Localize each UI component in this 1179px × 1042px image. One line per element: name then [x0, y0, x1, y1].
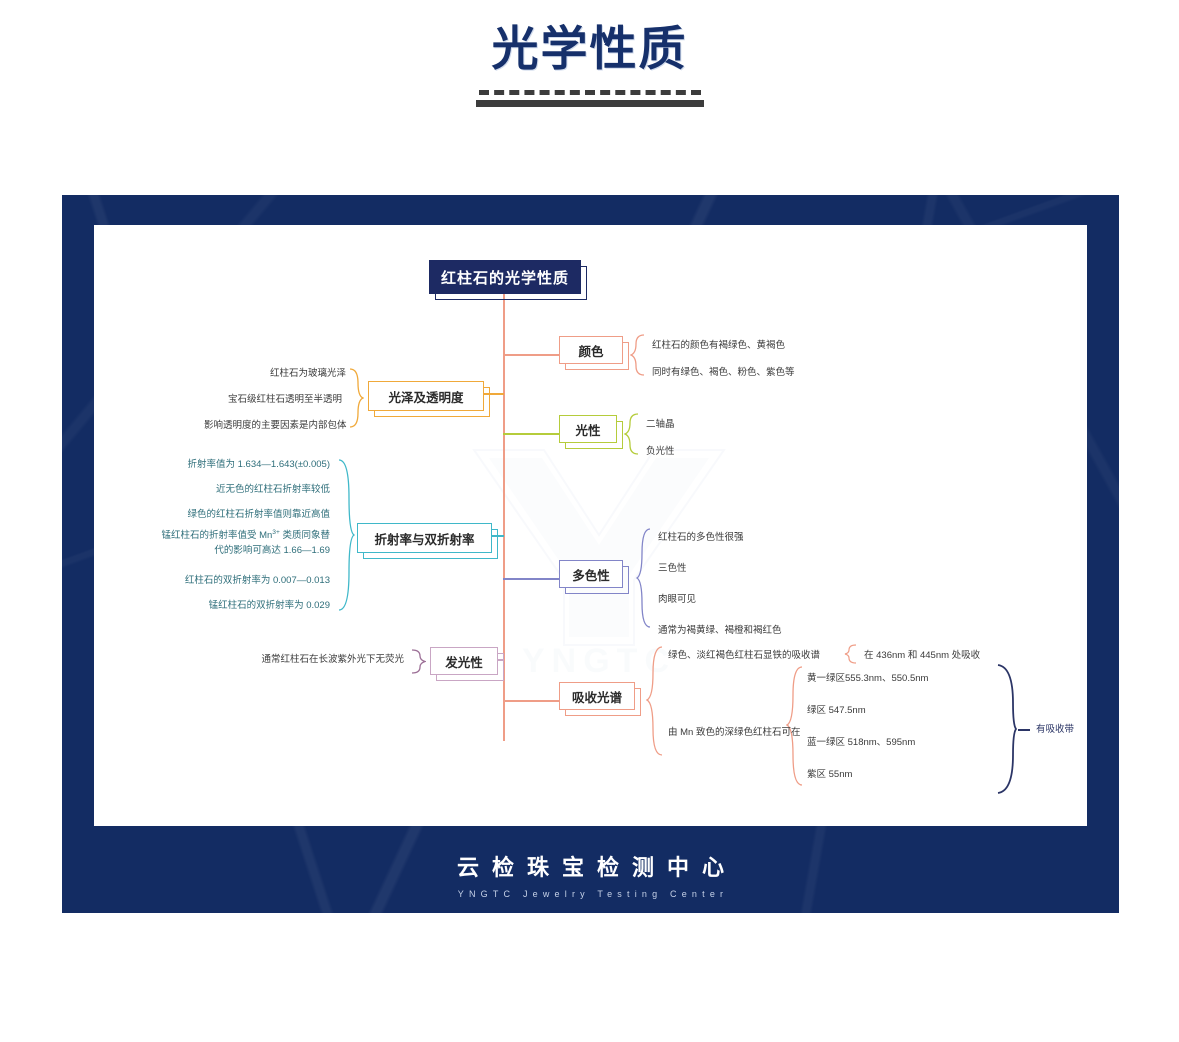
brace-spectrum [646, 645, 664, 760]
connector-pleochroism [503, 578, 559, 580]
footer-title-cn: 云检珠宝检测中心 [62, 850, 1119, 882]
brace-color [630, 333, 646, 377]
leaf-luminescence-0: 通常红柱石在长波紫外光下无荧光 [240, 652, 404, 667]
leaf-spectrum-0: 绿色、淡红褐色红柱石显铁的吸收谱 [668, 648, 820, 663]
leaf-color-1: 同时有绿色、褐色、粉色、紫色等 [652, 365, 795, 380]
leaf-spectrum-1: 由 Mn 致色的深绿色红柱石可在 [668, 725, 800, 740]
connector-optic [503, 433, 559, 435]
leaf-optic-0: 二轴晶 [646, 417, 675, 432]
node-ri[interactable]: 折射率与双折射率 [357, 523, 492, 553]
node-spectrum[interactable]: 吸收光谱 [559, 682, 635, 710]
brace-spectrum-sub-0 [844, 643, 858, 665]
leaf-spectrum-sub-1-0: 黄一绿区555.3nm、550.5nm [807, 671, 928, 686]
title-dashed-rule [479, 90, 701, 95]
leaf-ri-4: 红柱石的双折射率为 0.007—0.013 [170, 573, 330, 588]
leaf-pleochroism-2: 肉眼可见 [658, 592, 696, 607]
leaf-pleochroism-3: 通常为褐黄绿、褐橙和褐红色 [658, 623, 782, 638]
leaf-spectrum-sub-1-3: 紫区 55nm [807, 767, 852, 782]
title-solid-rule [476, 100, 704, 107]
leaf-luster-1: 宝石级红柱石透明至半透明 [228, 392, 342, 407]
brace-pleochroism [636, 527, 652, 632]
mindmap-panel: YNGTC 红柱石的光学性质 颜色 红柱石的颜色有褐绿色、黄褐色 同时有绿色、褐… [94, 225, 1087, 826]
leaf-ri-2: 绿色的红柱石折射率值则靠近高值 [170, 507, 330, 522]
node-color[interactable]: 颜色 [559, 336, 623, 364]
leaf-color-0: 红柱石的颜色有褐绿色、黄褐色 [652, 338, 785, 353]
leaf-luster-0: 红柱石为玻璃光泽 [270, 366, 342, 381]
node-luminescence[interactable]: 发光性 [430, 647, 498, 675]
leaf-ri-0: 折射率值为 1.634—1.643(±0.005) [170, 457, 330, 472]
node-optic[interactable]: 光性 [559, 415, 617, 443]
brace-luster [348, 367, 364, 429]
leaf-spectrum-sub-0-0: 在 436nm 和 445nm 处吸收 [864, 648, 980, 663]
node-pleochroism[interactable]: 多色性 [559, 560, 623, 588]
connector-absorption-band [1018, 729, 1030, 731]
page-title: 光学性质 [0, 22, 1179, 76]
brace-absorption-band [994, 663, 1018, 795]
brace-optic [624, 412, 640, 456]
leaf-luster-2: 影响透明度的主要因素是内部包体 [204, 418, 342, 433]
leaf-spectrum-sub-1-2: 蓝一绿区 518nm、595nm [807, 735, 915, 750]
connector-color [503, 354, 559, 356]
leaf-absorption-band: 有吸收带 [1036, 722, 1074, 737]
connector-spectrum [503, 700, 559, 702]
brace-luminescence [410, 648, 426, 675]
root-node[interactable]: 红柱石的光学性质 [429, 260, 581, 294]
footer-title-en: YNGTC Jewelry Testing Center [62, 889, 1119, 899]
node-luster[interactable]: 光泽及透明度 [368, 381, 484, 411]
mindmap-canvas: 红柱石的光学性质 颜色 红柱石的颜色有褐绿色、黄褐色 同时有绿色、褐色、粉色、紫… [94, 225, 1087, 826]
title-block: 光学性质 [0, 22, 1179, 107]
brace-ri [337, 458, 355, 613]
leaf-optic-1: 负光性 [646, 444, 675, 459]
leaf-ri-1: 近无色的红柱石折射率较低 [190, 482, 330, 497]
leaf-ri-5: 锰红柱石的双折射率为 0.029 [180, 598, 330, 613]
leaf-ri-3: 锰红柱石的折射率值受 Mn3+ 类质同象替代的影响可高达 1.66—1.69 [152, 528, 330, 559]
leaf-pleochroism-1: 三色性 [658, 561, 687, 576]
leaf-spectrum-sub-1-1: 绿区 547.5nm [807, 703, 866, 718]
footer: 云检珠宝检测中心 YNGTC Jewelry Testing Center [62, 850, 1119, 899]
mindmap-card: YNGTC 红柱石的光学性质 颜色 红柱石的颜色有褐绿色、黄褐色 同时有绿色、褐… [62, 195, 1119, 913]
leaf-pleochroism-0: 红柱石的多色性很强 [658, 530, 744, 545]
